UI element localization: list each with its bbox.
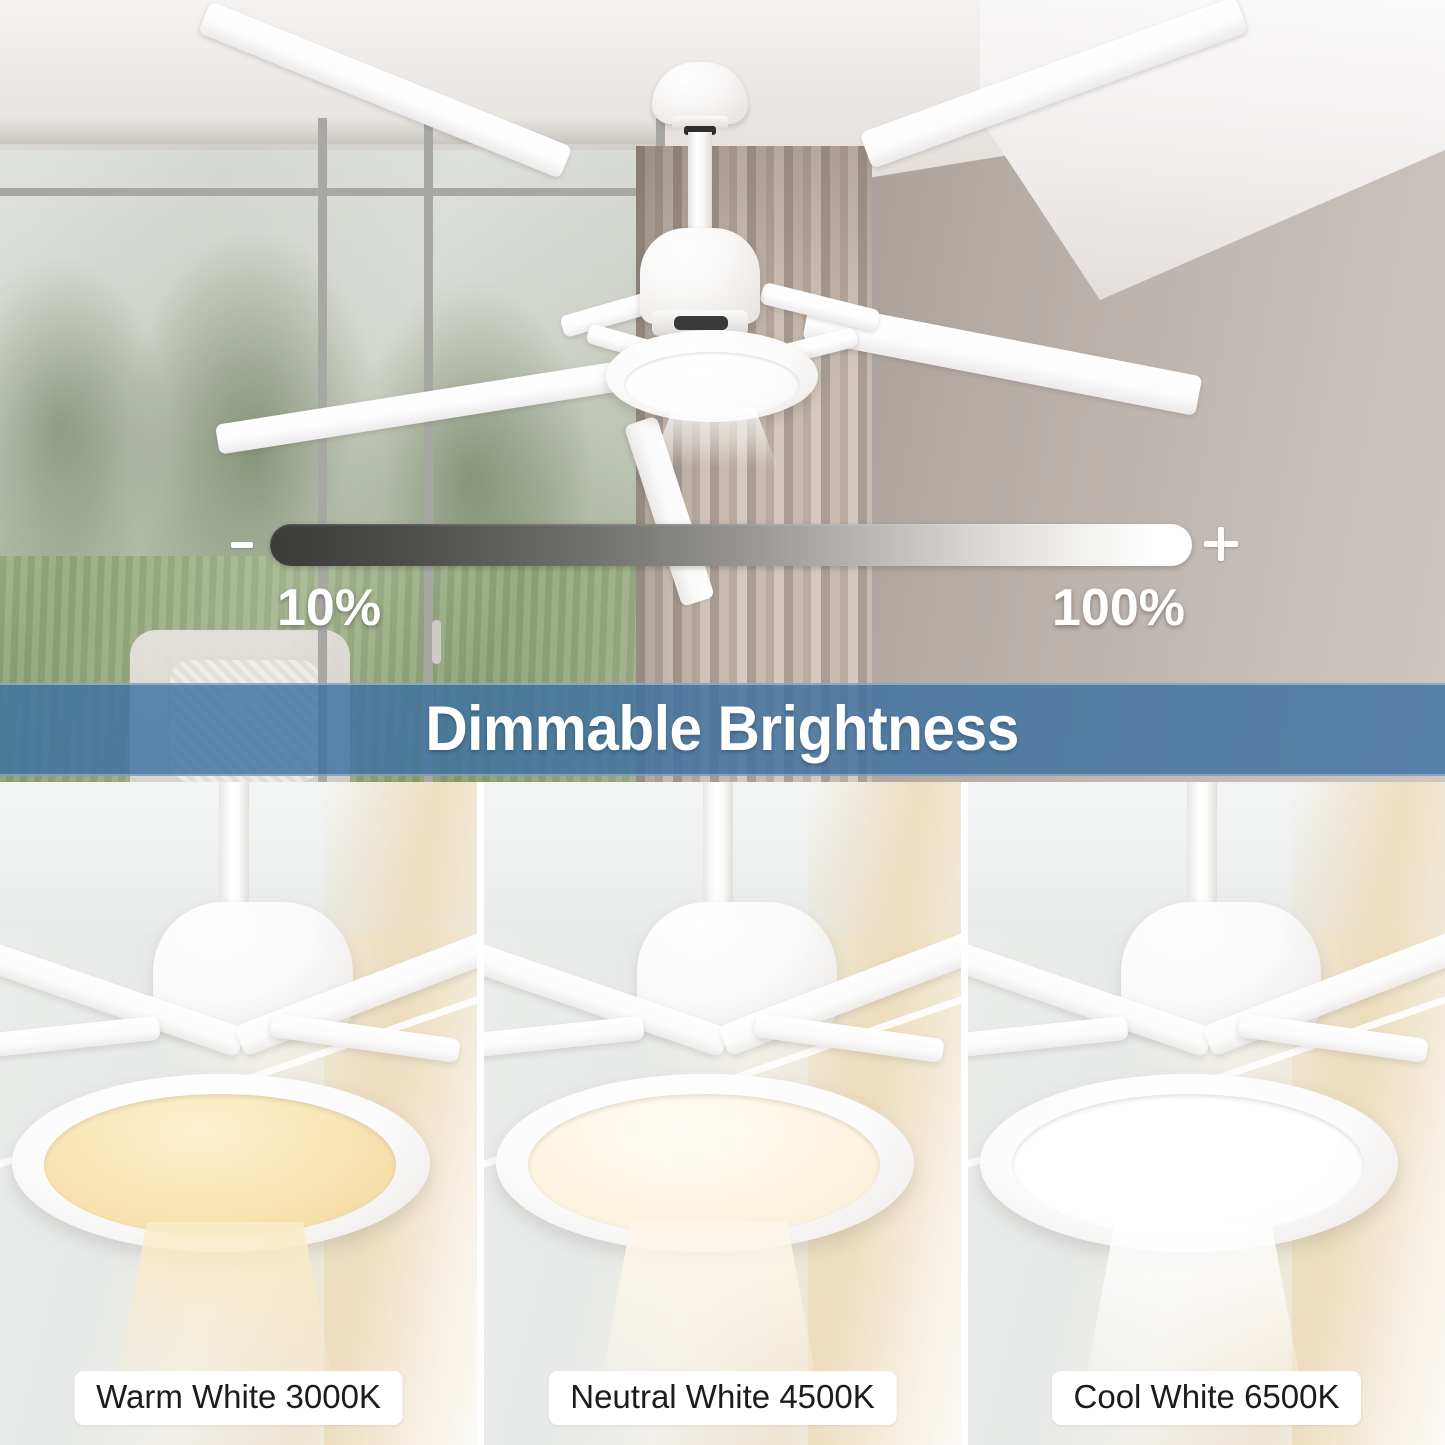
- product-feature-image: 10% 100% Dimmable Brightness Warm White …: [0, 0, 1445, 1445]
- led-lens: [44, 1094, 396, 1236]
- fan-downrod: [1187, 782, 1217, 912]
- led-lens: [1012, 1094, 1364, 1236]
- slider-track[interactable]: [270, 524, 1192, 566]
- panel-warm-white: Warm White 3000K: [0, 782, 477, 1445]
- hero-room-scene: 10% 100%: [0, 0, 1445, 782]
- minus-icon[interactable]: [231, 542, 253, 548]
- panel-cool-white: Cool White 6500K: [968, 782, 1445, 1445]
- banner-title: Dimmable Brightness: [426, 698, 1019, 761]
- fan-downrod: [703, 782, 733, 912]
- label-cool-white: Cool White 6500K: [1052, 1371, 1362, 1425]
- led-lens: [528, 1094, 880, 1236]
- blade-iron: [968, 1016, 1129, 1061]
- panel-neutral-white: Neutral White 4500K: [484, 782, 961, 1445]
- feature-banner: Dimmable Brightness: [0, 683, 1445, 776]
- fan-downrod: [219, 782, 249, 912]
- brightness-slider[interactable]: 10% 100%: [0, 0, 1445, 782]
- label-neutral-white: Neutral White 4500K: [548, 1371, 897, 1425]
- blade-iron: [484, 1016, 645, 1061]
- blade-iron: [0, 1016, 161, 1061]
- plus-icon[interactable]: [1204, 527, 1238, 561]
- label-warm-white: Warm White 3000K: [74, 1371, 403, 1425]
- color-temperature-comparison: Warm White 3000K Neutral White 4500K: [0, 782, 1445, 1445]
- min-brightness-label: 10%: [277, 582, 381, 634]
- max-brightness-label: 100%: [1052, 582, 1185, 634]
